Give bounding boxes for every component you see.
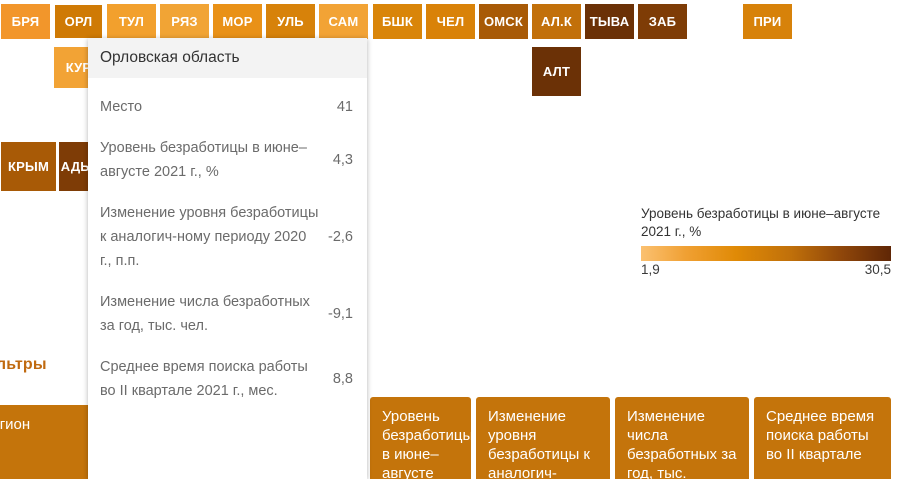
treemap-tile-label: АЛ.К xyxy=(541,15,572,28)
legend-title: Уровень безработицы в июне–августе 2021 … xyxy=(641,205,891,241)
table-column-header-label: Уровень безработицы в июне–августе xyxy=(382,408,471,479)
legend-min-label: 1,9 xyxy=(641,262,660,277)
treemap-tile-label: АЛТ xyxy=(543,65,570,78)
treemap-tile-label: УЛЬ xyxy=(277,15,304,28)
region-tooltip: Орловская область Место41Уровень безрабо… xyxy=(88,38,367,479)
tooltip-title: Орловская область xyxy=(100,49,240,67)
tooltip-row: Место41 xyxy=(100,78,353,119)
treemap-tile-label: ТЫВА xyxy=(590,15,630,28)
table-column-header[interactable]: Среднее время поиска работы во II кварта… xyxy=(754,397,891,479)
legend-gradient-bar xyxy=(641,246,891,261)
treemap-tile-label: САМ xyxy=(329,15,359,28)
treemap-tile[interactable]: САМ xyxy=(318,3,369,40)
treemap-tile[interactable]: ОРЛ xyxy=(53,3,104,40)
tooltip-row: Изменение числа безработных за год, тыс.… xyxy=(100,273,353,338)
table-column-header-label: Среднее время поиска работы во II кварта… xyxy=(766,408,874,463)
tooltip-row-label: Изменение числа безработных за год, тыс.… xyxy=(100,290,328,338)
treemap-tile[interactable]: ПРИ xyxy=(742,3,793,40)
treemap-tile-label: РЯЗ xyxy=(171,15,197,28)
tooltip-header: Орловская область xyxy=(88,38,367,78)
legend: Уровень безработицы в июне–августе 2021 … xyxy=(641,205,891,280)
table-column-header[interactable]: Уровень безработицы в июне–августе xyxy=(370,397,471,479)
treemap-tile-label: ТУЛ xyxy=(119,15,144,28)
filters-label: Фильтры xyxy=(0,356,47,374)
legend-scale: 1,9 30,5 xyxy=(641,262,891,280)
tooltip-row-label: Изменение уровня безработицы к аналогич-… xyxy=(100,201,328,273)
table-column-header[interactable]: Изменение числа безработных за год, тыс. xyxy=(615,397,749,479)
treemap-tile[interactable]: ЧЕЛ xyxy=(425,3,476,40)
treemap-tile-label: ОРЛ xyxy=(65,15,93,28)
treemap-tile[interactable]: ЗАБ xyxy=(637,3,688,40)
treemap-tile-label: ПРИ xyxy=(754,15,782,28)
treemap-tile-label: МОР xyxy=(222,15,252,28)
treemap-tile[interactable]: ОМСК xyxy=(478,3,529,40)
table-column-header-label: Изменение числа безработных за год, тыс. xyxy=(627,408,736,479)
table-column-header[interactable]: Изменение уровня безработицы к аналогич- xyxy=(476,397,610,479)
tooltip-row-label: Место xyxy=(100,95,337,119)
tooltip-row-value: -2,6 xyxy=(328,225,353,249)
treemap-tile-label: ОМСК xyxy=(484,15,523,28)
treemap-tile-label: ЗАБ xyxy=(649,15,676,28)
tooltip-row-label: Уровень безработицы в июне–августе 2021 … xyxy=(100,136,333,184)
treemap-tile-label: БШК xyxy=(382,15,413,28)
tooltip-row-value: 41 xyxy=(337,95,353,119)
treemap-tile[interactable]: УЛЬ xyxy=(265,3,316,40)
treemap-tile-label: КРЫМ xyxy=(8,160,49,173)
tooltip-row: Изменение уровня безработицы к аналогич-… xyxy=(100,184,353,273)
treemap-tile[interactable]: РЯЗ xyxy=(159,3,210,40)
table-column-header-label: Регион xyxy=(0,416,30,433)
tooltip-body: Место41Уровень безработицы в июне–август… xyxy=(88,78,367,403)
treemap-tile[interactable]: АЛ.К xyxy=(531,3,582,40)
treemap-tile-label: БРЯ xyxy=(12,15,40,28)
treemap-tile[interactable]: КРЫМ xyxy=(0,141,57,192)
tooltip-row: Уровень безработицы в июне–августе 2021 … xyxy=(100,119,353,184)
treemap-tile[interactable]: МОР xyxy=(212,3,263,40)
table-column-header-label: Изменение уровня безработицы к аналогич- xyxy=(488,408,590,479)
tooltip-row: Среднее время поиска работы во II кварта… xyxy=(100,338,353,403)
tooltip-row-value: 8,8 xyxy=(333,367,353,391)
tooltip-row-label: Среднее время поиска работы во II кварта… xyxy=(100,355,333,403)
table-column-header[interactable]: Регион xyxy=(0,405,102,479)
treemap-tile[interactable]: БШК xyxy=(372,3,423,40)
treemap-tile[interactable]: ТУЛ xyxy=(106,3,157,40)
treemap-tile[interactable]: АЛТ xyxy=(531,46,582,97)
tooltip-row-value: -9,1 xyxy=(328,302,353,326)
tooltip-row-value: 4,3 xyxy=(333,148,353,172)
treemap-tile[interactable]: БРЯ xyxy=(0,3,51,40)
treemap-tile[interactable]: ТЫВА xyxy=(584,3,635,40)
treemap-tile-label: ЧЕЛ xyxy=(437,15,465,28)
legend-max-label: 30,5 xyxy=(865,262,891,277)
